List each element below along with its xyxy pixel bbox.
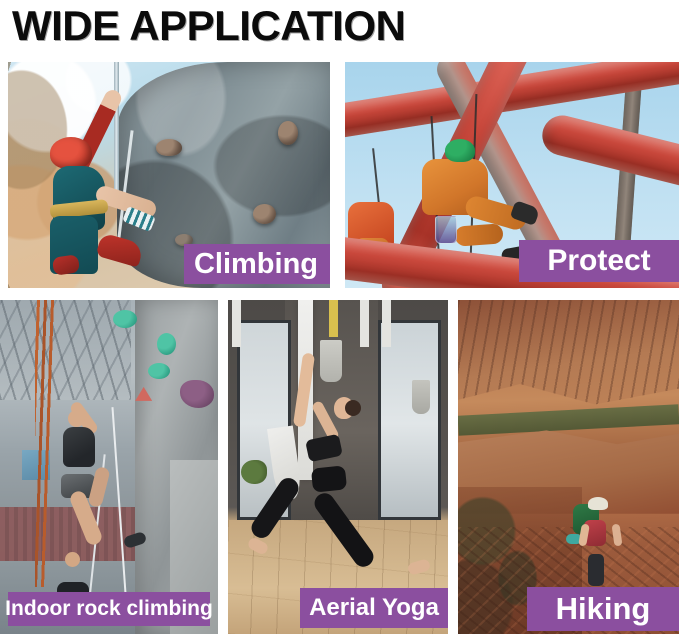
hanging-strap	[232, 300, 241, 347]
hiker-legs	[588, 554, 604, 586]
hiker-hat	[588, 497, 608, 510]
rock-hold-icon	[253, 204, 276, 224]
yogi-hips	[310, 465, 346, 492]
yoga-studio-scene	[228, 300, 448, 634]
rock-hold-icon	[156, 139, 182, 156]
climber-torso	[63, 427, 95, 467]
red-helmet	[50, 137, 92, 169]
caption-protect: Protect	[519, 240, 679, 282]
climber-head	[68, 410, 85, 427]
caption-aerial-yoga: Aerial Yoga	[300, 588, 448, 628]
photo-tile-climbing[interactable]: Climbing	[8, 62, 330, 288]
wide-application-poster: WIDE APPLICATION Climbing	[0, 0, 679, 634]
studio-window	[378, 320, 441, 520]
metal-pole	[114, 62, 119, 202]
photo-tile-protect[interactable]: Protect	[345, 62, 679, 288]
ceiling-trusses	[0, 300, 131, 400]
caption-climbing: Climbing	[184, 244, 330, 284]
worker-leg	[455, 223, 504, 246]
photo-tile-indoor-rock-climbing[interactable]: Indoor rock climbing	[0, 300, 218, 634]
hanging-hammock	[412, 380, 430, 414]
hanging-orange-ropes	[35, 300, 55, 587]
hanging-strap	[329, 300, 338, 337]
photo-tile-aerial-yoga[interactable]: Aerial Yoga	[228, 300, 448, 634]
green-helmet	[445, 139, 475, 162]
indoor-gym-scene	[0, 300, 218, 634]
caption-indoor-rock-climbing: Indoor rock climbing	[8, 592, 210, 626]
hanging-strap	[360, 300, 369, 347]
hiking-scene	[458, 300, 679, 634]
potted-plant	[241, 460, 267, 484]
yogi-hair-bun	[345, 400, 361, 416]
hanging-strap	[382, 300, 391, 347]
page-title: WIDE APPLICATION	[12, 0, 405, 52]
hanging-hammock	[320, 340, 342, 382]
caption-hiking: Hiking	[527, 587, 679, 631]
paint-bucket	[435, 216, 457, 244]
photo-tile-hiking[interactable]: Hiking	[458, 300, 679, 634]
